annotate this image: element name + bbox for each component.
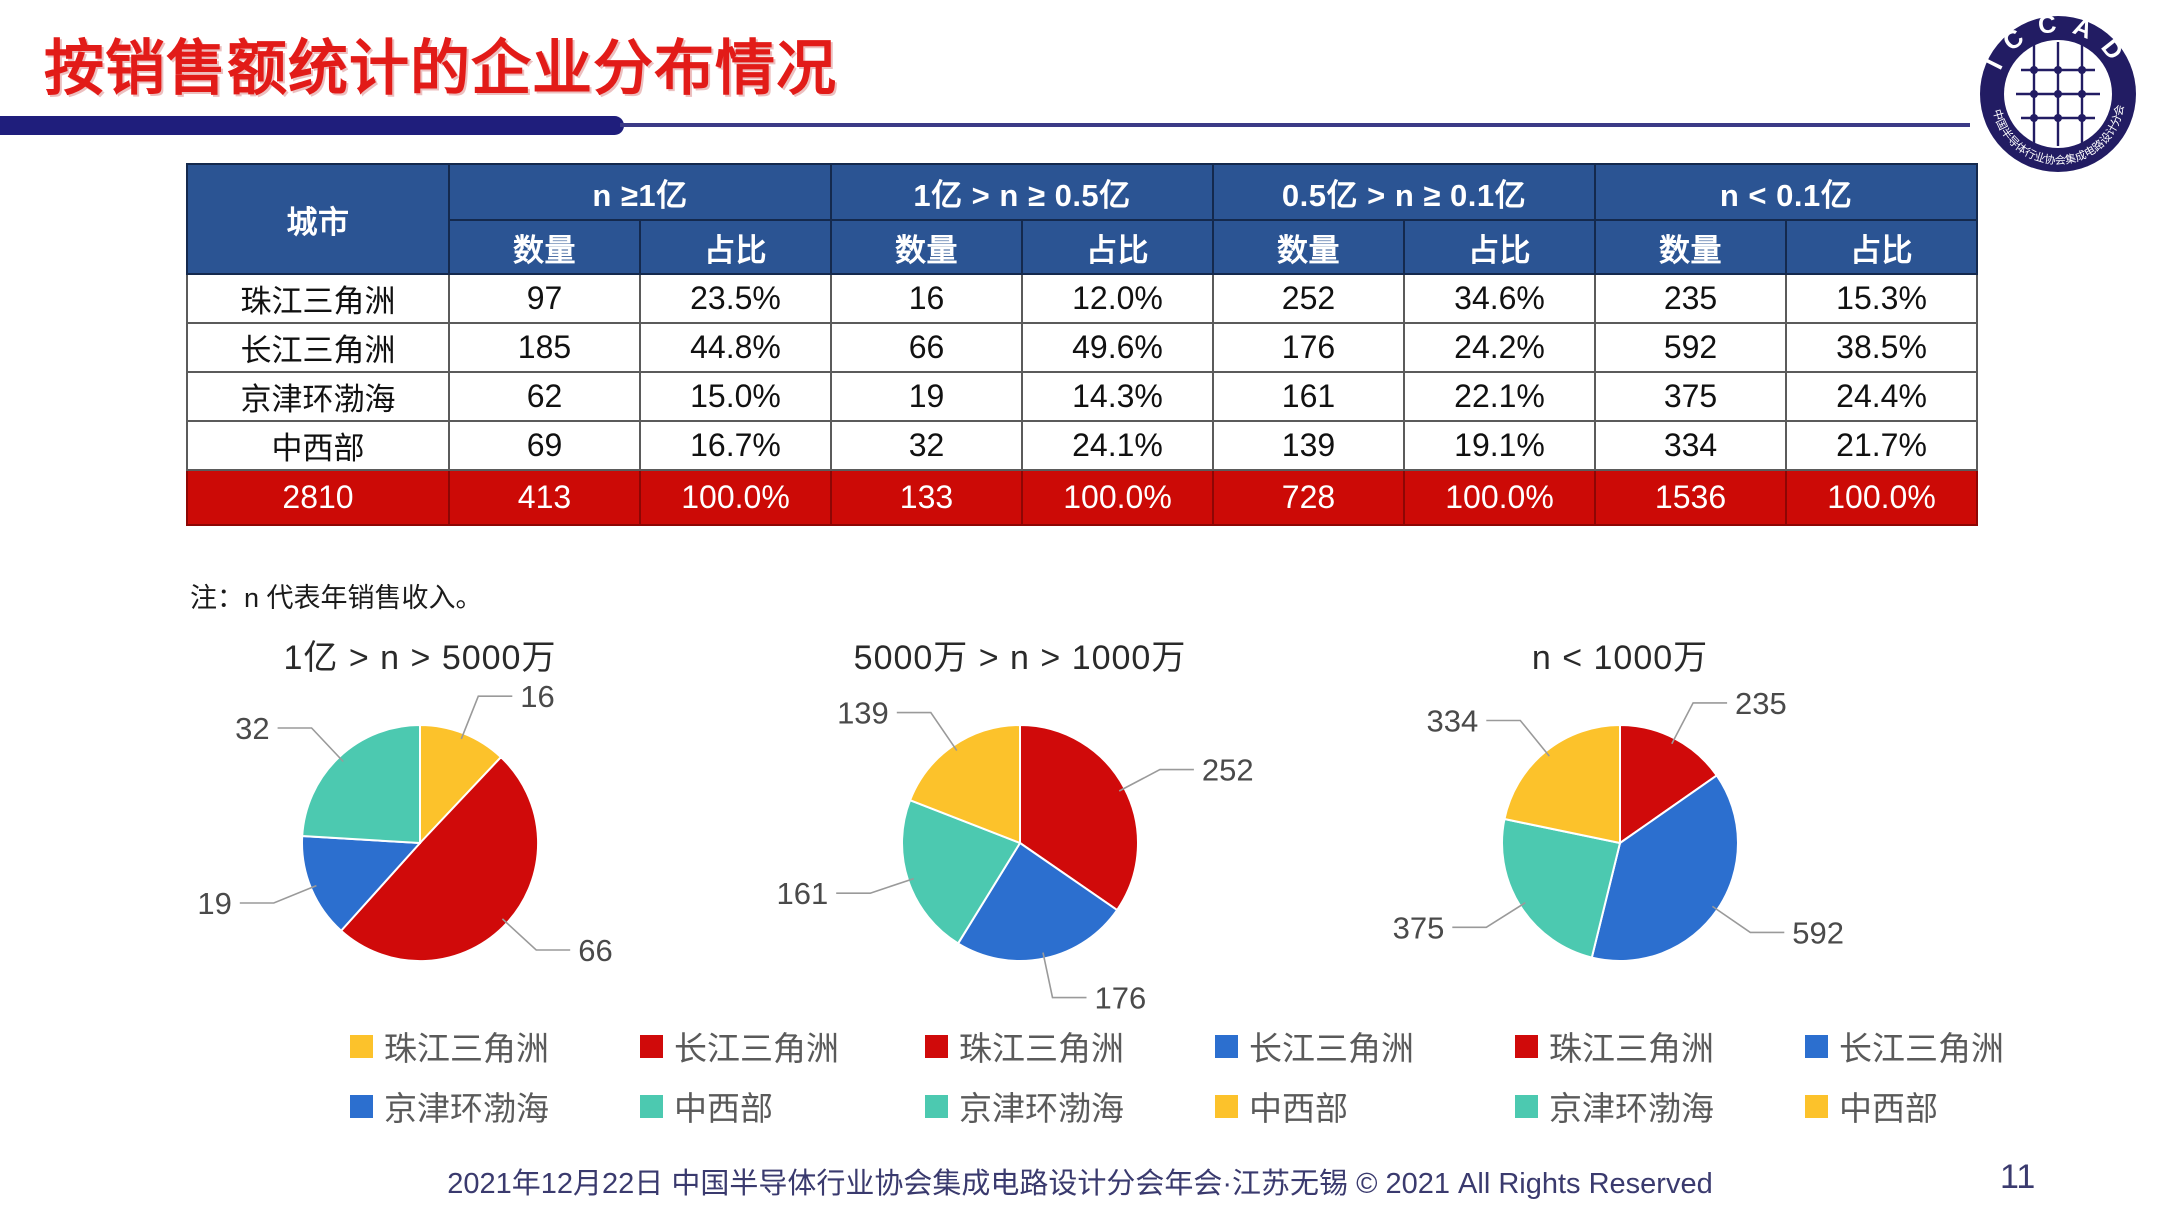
cell-value: 592 [1595,323,1786,372]
legend-item[interactable]: 中西部 [1215,1082,1348,1130]
iccad-logo: I C C A D 中国半导体行业协会集成电路设计分会 [1976,12,2140,176]
table-row: 中西部 69 16.7% 32 24.1% 139 19.1% 334 21.7… [187,421,1977,470]
table-row: 珠江三角洲 97 23.5% 16 12.0% 252 34.6% 235 15… [187,274,1977,323]
cell-value: 14.3% [1022,372,1213,421]
legend-item[interactable]: 长江三角洲 [1215,1022,1414,1070]
legend-swatch-icon [1805,1095,1828,1118]
th-share-1: 占比 [640,220,831,274]
cell-value: 62 [449,372,640,421]
chart-1-canvas: 16661932 [120,668,720,1028]
pie-leader-line [1672,703,1727,744]
distribution-table: 城市 n ≥1亿 1亿 > n ≥ 0.5亿 0.5亿 > n ≥ 0.1亿 n… [186,163,1978,526]
table-row: 京津环渤海 62 15.0% 19 14.3% 161 22.1% 375 24… [187,372,1977,421]
cell-total-value: 100.0% [1022,470,1213,525]
cell-value: 49.6% [1022,323,1213,372]
legend-label: 珠江三角洲 [384,1022,549,1070]
th-group-4: n < 0.1亿 [1595,164,1977,220]
legend-item[interactable]: 珠江三角洲 [350,1022,640,1070]
legend-swatch-icon [1215,1035,1238,1058]
cell-value: 161 [1213,372,1404,421]
cell-total-value: 413 [449,470,640,525]
legend-swatch-icon [925,1095,948,1118]
legend-swatch-icon [925,1035,948,1058]
legend-swatch-icon [350,1095,373,1118]
legend-label: 珠江三角洲 [959,1022,1124,1070]
pie-leader-line [1486,721,1549,757]
pie-leader-line [897,713,957,751]
pie-chart-group: 1亿 > n > 5000万 16661932 5000万 > n > 1000… [0,630,2160,1030]
legend-label: 中西部 [674,1082,773,1130]
cell-value: 16.7% [640,421,831,470]
legend-item[interactable]: 中西部 [640,1082,773,1130]
pie-leader-line [836,879,914,894]
cell-value: 176 [1213,323,1404,372]
chart-2-canvas: 252176161139 [720,668,1320,1028]
cell-value: 44.8% [640,323,831,372]
pie-slice-label: 161 [776,876,828,911]
legend-item[interactable]: 京津环渤海 [925,1082,1215,1130]
cell-value: 24.4% [1786,372,1977,421]
pie-chart-3-legend: 珠江三角洲 长江三角洲 京津环渤海 中西部 [1515,1022,2075,1130]
legend-label: 京津环渤海 [959,1082,1124,1130]
legend-swatch-icon [640,1035,663,1058]
legend-label: 京津环渤海 [384,1082,549,1130]
legend-swatch-icon [1515,1095,1538,1118]
cell-total-label: 2810 [187,470,449,525]
slide-footer: 2021年12月22日 中国半导体行业协会集成电路设计分会年会·江苏无锡 © 2… [0,1160,2160,1202]
cell-value: 21.7% [1786,421,1977,470]
pie-chart-1-legend: 珠江三角洲 长江三角洲 京津环渤海 中西部 [350,1022,910,1130]
pie-slice-label: 375 [1393,910,1445,945]
page-title: 按销售额统计的企业分布情况 [44,20,837,107]
cell-value: 375 [1595,372,1786,421]
pie-slice[interactable] [302,725,420,843]
cell-city: 珠江三角洲 [187,274,449,323]
th-count-4: 数量 [1595,220,1786,274]
legend-item[interactable]: 京津环渤海 [1515,1082,1805,1130]
pie-leader-line [1043,953,1087,998]
legend-label: 长江三角洲 [1249,1022,1414,1070]
table-head: 城市 n ≥1亿 1亿 > n ≥ 0.5亿 0.5亿 > n ≥ 0.1亿 n… [187,164,1977,274]
cell-value: 16 [831,274,1022,323]
table-note: 注：n 代表年销售收入。 [190,576,483,615]
legend-label: 长江三角洲 [1839,1022,2004,1070]
legend-row: 京津环渤海 中西部 [1515,1082,2075,1130]
pie-slice-label: 176 [1094,981,1146,1016]
legend-row: 珠江三角洲 长江三角洲 [1515,1022,2075,1070]
pie-leader-line [278,728,344,762]
legend-item[interactable]: 珠江三角洲 [1515,1022,1805,1070]
cell-value: 66 [831,323,1022,372]
th-share-3: 占比 [1404,220,1595,274]
th-count-1: 数量 [449,220,640,274]
table-sub-header-row: 数量 占比 数量 占比 数量 占比 数量 占比 [187,220,1977,274]
cell-total-value: 728 [1213,470,1404,525]
table-body: 珠江三角洲 97 23.5% 16 12.0% 252 34.6% 235 15… [187,274,1977,525]
pie-leader-line [502,919,570,950]
cell-value: 139 [1213,421,1404,470]
legend-item[interactable]: 京津环渤海 [350,1082,640,1130]
table-row: 长江三角洲 185 44.8% 66 49.6% 176 24.2% 592 3… [187,323,1977,372]
legend-item[interactable]: 中西部 [1805,1082,1938,1130]
pie-slice-label: 19 [197,886,231,921]
pie-leader-line [1712,906,1784,932]
legend-label: 京津环渤海 [1549,1082,1714,1130]
slide-root: 按销售额统计的企业分布情况 I C C A D [0,0,2160,1216]
cell-value: 69 [449,421,640,470]
legend-row: 京津环渤海 中西部 [350,1082,910,1130]
legend-row: 京津环渤海 中西部 [925,1082,1485,1130]
legend-label: 长江三角洲 [674,1022,839,1070]
cell-value: 185 [449,323,640,372]
pie-chart-2-legend: 珠江三角洲 长江三角洲 京津环渤海 中西部 [925,1022,1485,1130]
page-number: 11 [2000,1158,2035,1197]
cell-value: 22.1% [1404,372,1595,421]
pie-slice-label: 66 [578,933,612,968]
cell-city: 长江三角洲 [187,323,449,372]
cell-value: 15.3% [1786,274,1977,323]
th-group-3: 0.5亿 > n ≥ 0.1亿 [1213,164,1595,220]
cell-value: 15.0% [640,372,831,421]
pie-slice-label: 334 [1427,703,1479,738]
legend-swatch-icon [1805,1035,1828,1058]
legend-swatch-icon [350,1035,373,1058]
pie-leader-line [461,696,512,739]
pie-slice-label: 235 [1735,686,1787,721]
pie-slice-label: 32 [235,711,269,746]
legend-label: 珠江三角洲 [1549,1022,1714,1070]
th-count-3: 数量 [1213,220,1404,274]
cell-value: 32 [831,421,1022,470]
th-group-2: 1亿 > n ≥ 0.5亿 [831,164,1213,220]
pie-chart-3: n < 1000万 235592375334 [1320,630,1920,1030]
pie-slice-label: 252 [1202,753,1254,788]
table-total-row: 2810 413 100.0% 133 100.0% 728 100.0% 15… [187,470,1977,525]
pie-leader-line [1119,770,1194,791]
cell-city: 中西部 [187,421,449,470]
cell-value: 12.0% [1022,274,1213,323]
legend-item[interactable]: 长江三角洲 [640,1022,839,1070]
cell-value: 24.1% [1022,421,1213,470]
cell-value: 252 [1213,274,1404,323]
cell-total-value: 1536 [1595,470,1786,525]
legend-label: 中西部 [1839,1082,1938,1130]
cell-value: 38.5% [1786,323,1977,372]
table-group-header-row: 城市 n ≥1亿 1亿 > n ≥ 0.5亿 0.5亿 > n ≥ 0.1亿 n… [187,164,1977,220]
cell-value: 34.6% [1404,274,1595,323]
pie-chart-2: 5000万 > n > 1000万 252176161139 [720,630,1320,1030]
title-rule-thick [0,116,624,135]
legend-swatch-icon [1215,1095,1238,1118]
th-share-4: 占比 [1786,220,1977,274]
cell-value: 19 [831,372,1022,421]
cell-value: 23.5% [640,274,831,323]
title-rule-thin [620,123,1970,127]
cell-city: 京津环渤海 [187,372,449,421]
legend-swatch-icon [640,1095,663,1118]
legend-item[interactable]: 长江三角洲 [1805,1022,2004,1070]
cell-value: 97 [449,274,640,323]
cell-value: 19.1% [1404,421,1595,470]
legend-swatch-icon [1515,1035,1538,1058]
pie-leader-line [1452,903,1525,928]
pie-slice-label: 139 [837,696,889,731]
legend-row: 珠江三角洲 长江三角洲 [925,1022,1485,1070]
pie-leader-line [240,886,317,903]
th-group-1: n ≥1亿 [449,164,831,220]
cell-total-value: 100.0% [1404,470,1595,525]
legend-label: 中西部 [1249,1082,1348,1130]
cell-value: 334 [1595,421,1786,470]
legend-item[interactable]: 珠江三角洲 [925,1022,1215,1070]
th-city: 城市 [187,164,449,274]
pie-slice-label: 592 [1792,915,1844,950]
cell-total-value: 133 [831,470,1022,525]
cell-value: 24.2% [1404,323,1595,372]
legend-row: 珠江三角洲 长江三角洲 [350,1022,910,1070]
th-share-2: 占比 [1022,220,1213,274]
th-count-2: 数量 [831,220,1022,274]
pie-chart-1: 1亿 > n > 5000万 16661932 [120,630,720,1030]
cell-total-value: 100.0% [1786,470,1977,525]
distribution-table-wrapper: 城市 n ≥1亿 1亿 > n ≥ 0.5亿 0.5亿 > n ≥ 0.1亿 n… [186,163,1978,526]
chart-3-canvas: 235592375334 [1320,668,1920,1028]
cell-value: 235 [1595,274,1786,323]
cell-total-value: 100.0% [640,470,831,525]
pie-slice-label: 16 [520,679,554,714]
